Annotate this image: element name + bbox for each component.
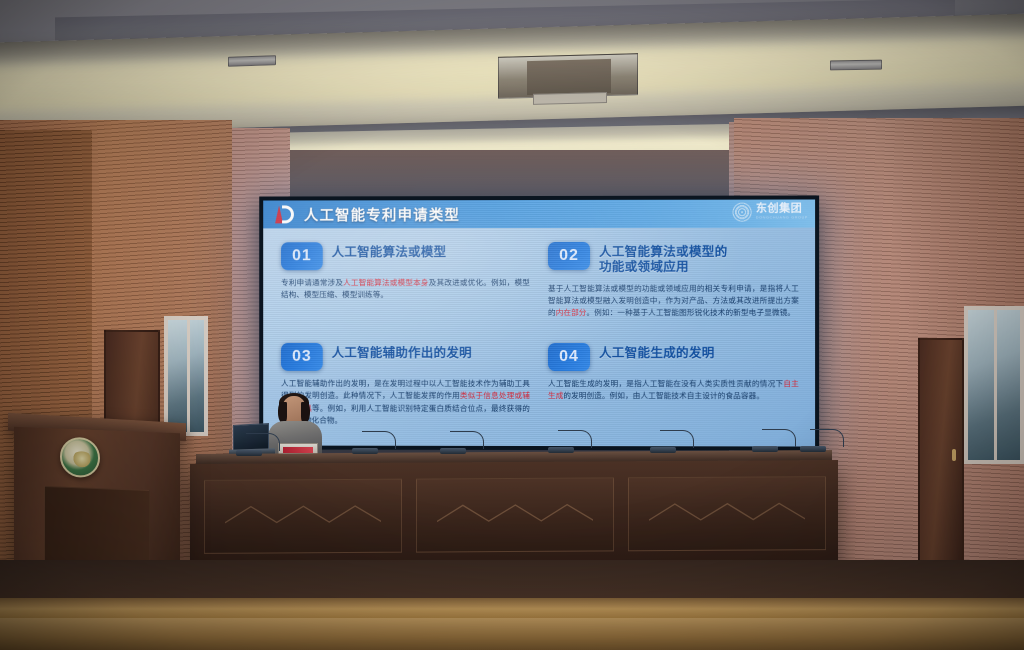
brand-name-en: DONGCHUANG GROUP [756,217,808,221]
floor-front [0,618,1024,650]
presenter-hair-left [278,402,287,423]
card-number-badge-02: 02 [548,242,590,270]
card-body-04-pre: 人工智能生成的发明，是指人工智能在没有人类实质性贡献的情况下 [548,379,783,388]
led-display-screen: 人工智能专利申请类型 东创集团 DONGCHUANG GROUP 01 人工智能… [259,195,819,450]
card-title-04: 人工智能生成的发明 [599,343,715,361]
dotted-globe-icon [733,203,752,222]
card-number-badge-01: 01 [281,242,323,270]
presentation-slide: 人工智能专利申请类型 东创集团 DONGCHUANG GROUP 01 人工智能… [263,199,815,446]
microphone-5 [650,429,696,453]
slide-header-bar: 人工智能专利申请类型 东创集团 DONGCHUANG GROUP [263,199,815,228]
conference-hall-scene: 人工智能专利申请类型 东创集团 DONGCHUANG GROUP 01 人工智能… [0,0,1024,650]
card-body-01-pre: 专利申请通常涉及 [281,278,343,287]
door-right[interactable] [918,338,964,570]
content-card-01: 01 人工智能算法或模型 专利申请通常涉及人工智能算法或模型本身及其改进或优化。… [281,242,530,337]
card-number-badge-03: 03 [281,343,323,371]
card-body-01: 专利申请通常涉及人工智能算法或模型本身及其改进或优化。例如，模型结构、模型压缩、… [281,277,530,302]
ceiling-vent-right [830,60,882,71]
card-body-01-highlight: 人工智能算法或模型本身 [343,278,429,287]
presenter-hair-right [301,402,310,423]
card-body-02: 基于人工智能算法或模型的功能或领域应用的相关专利申请，是指将人工智能算法或模型融… [548,282,799,319]
card-number-badge-04: 04 [548,343,590,371]
table-panel-2 [416,477,614,552]
card-body-04: 人工智能生成的发明，是指人工智能在没有人类实质性贡献的情况下自主生成的发明创造。… [548,378,799,403]
content-card-04: 04 人工智能生成的发明 人工智能生成的发明，是指人工智能在没有人类实质性贡献的… [548,343,799,438]
chevron-moulding-icon [649,499,806,526]
microphone-2 [352,430,398,454]
window-mullion-left [187,320,190,432]
brand-name-cn: 东创集团 [756,204,808,215]
podium-emblem-icon [60,437,100,479]
card-body-04-post: 的发明创造。例如，由人工智能技术自主设计的食品容器。 [563,391,764,400]
window-left [164,316,208,436]
brand-logo: 东创集团 DONGCHUANG GROUP [733,203,808,222]
card-title-03: 人工智能辅助作出的发明 [332,343,472,361]
chevron-moulding-icon [437,500,594,527]
window-right [964,306,1024,464]
microphone-4 [548,429,594,453]
window-mullion-right [994,310,997,460]
content-card-02: 02 人工智能算法或模型的 功能或领域应用 基于人工智能算法或模型的功能或领域应… [548,242,799,337]
slide-title: 人工智能专利申请类型 [304,204,460,225]
card-body-02-post: 。例如：一种基于人工智能图形锐化技术的新型电子显微镜。 [587,308,796,317]
microphone-1 [236,432,282,456]
slide-content-grid: 01 人工智能算法或模型 专利申请通常涉及人工智能算法或模型本身及其改进或优化。… [263,228,815,447]
table-panel-3 [628,476,826,551]
card-title-02: 人工智能算法或模型的 功能或领域应用 [599,242,727,276]
ceiling-vent-left [228,55,276,67]
microphone-6 [752,428,798,452]
triangle-d-logo-icon [273,204,295,224]
microphone-7 [800,428,846,452]
card-title-01: 人工智能算法或模型 [332,242,447,260]
ceiling-ac-unit [498,53,638,99]
table-panel-1 [204,479,402,554]
microphone-3 [440,430,486,454]
card-body-02-highlight: 内在部分 [556,308,587,317]
chevron-moulding-icon [225,501,382,528]
